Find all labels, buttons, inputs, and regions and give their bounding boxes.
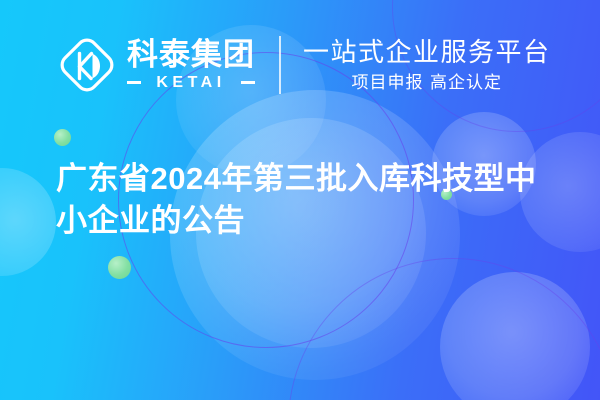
decorative-ring-outline-lower (288, 258, 600, 400)
brand-lockup: 科泰集团 KETAI (56, 34, 255, 96)
announcement-banner: 科泰集团 KETAI 一站式企业服务平台 项目申报 高企认定 广东省2024年第… (0, 0, 600, 400)
tagline-primary: 一站式企业服务平台 (303, 37, 551, 67)
decorative-blob-left-edge (0, 168, 56, 276)
brand-rule-left (127, 81, 141, 84)
banner-header: 科泰集团 KETAI 一站式企业服务平台 项目申报 高企认定 (0, 0, 600, 130)
decorative-green-dot-upper (54, 129, 71, 146)
header-divider (279, 36, 281, 94)
decorative-blob-right-low (440, 272, 590, 400)
page-title: 广东省2024年第三批入库科技型中小企业的公告 (56, 158, 556, 242)
decorative-green-dot-lower (108, 256, 131, 279)
tagline-secondary: 项目申报 高企认定 (352, 72, 502, 94)
brand-rule-right (241, 81, 255, 84)
tagline-block: 一站式企业服务平台 项目申报 高企认定 (303, 37, 551, 94)
brand-name-cn: 科泰集团 (127, 39, 255, 71)
brand-name-en: KETAI (141, 74, 241, 91)
brand-wordmark: 科泰集团 KETAI (127, 39, 255, 91)
brand-name-en-row: KETAI (127, 74, 255, 91)
ketai-diamond-logo-icon (56, 34, 118, 96)
